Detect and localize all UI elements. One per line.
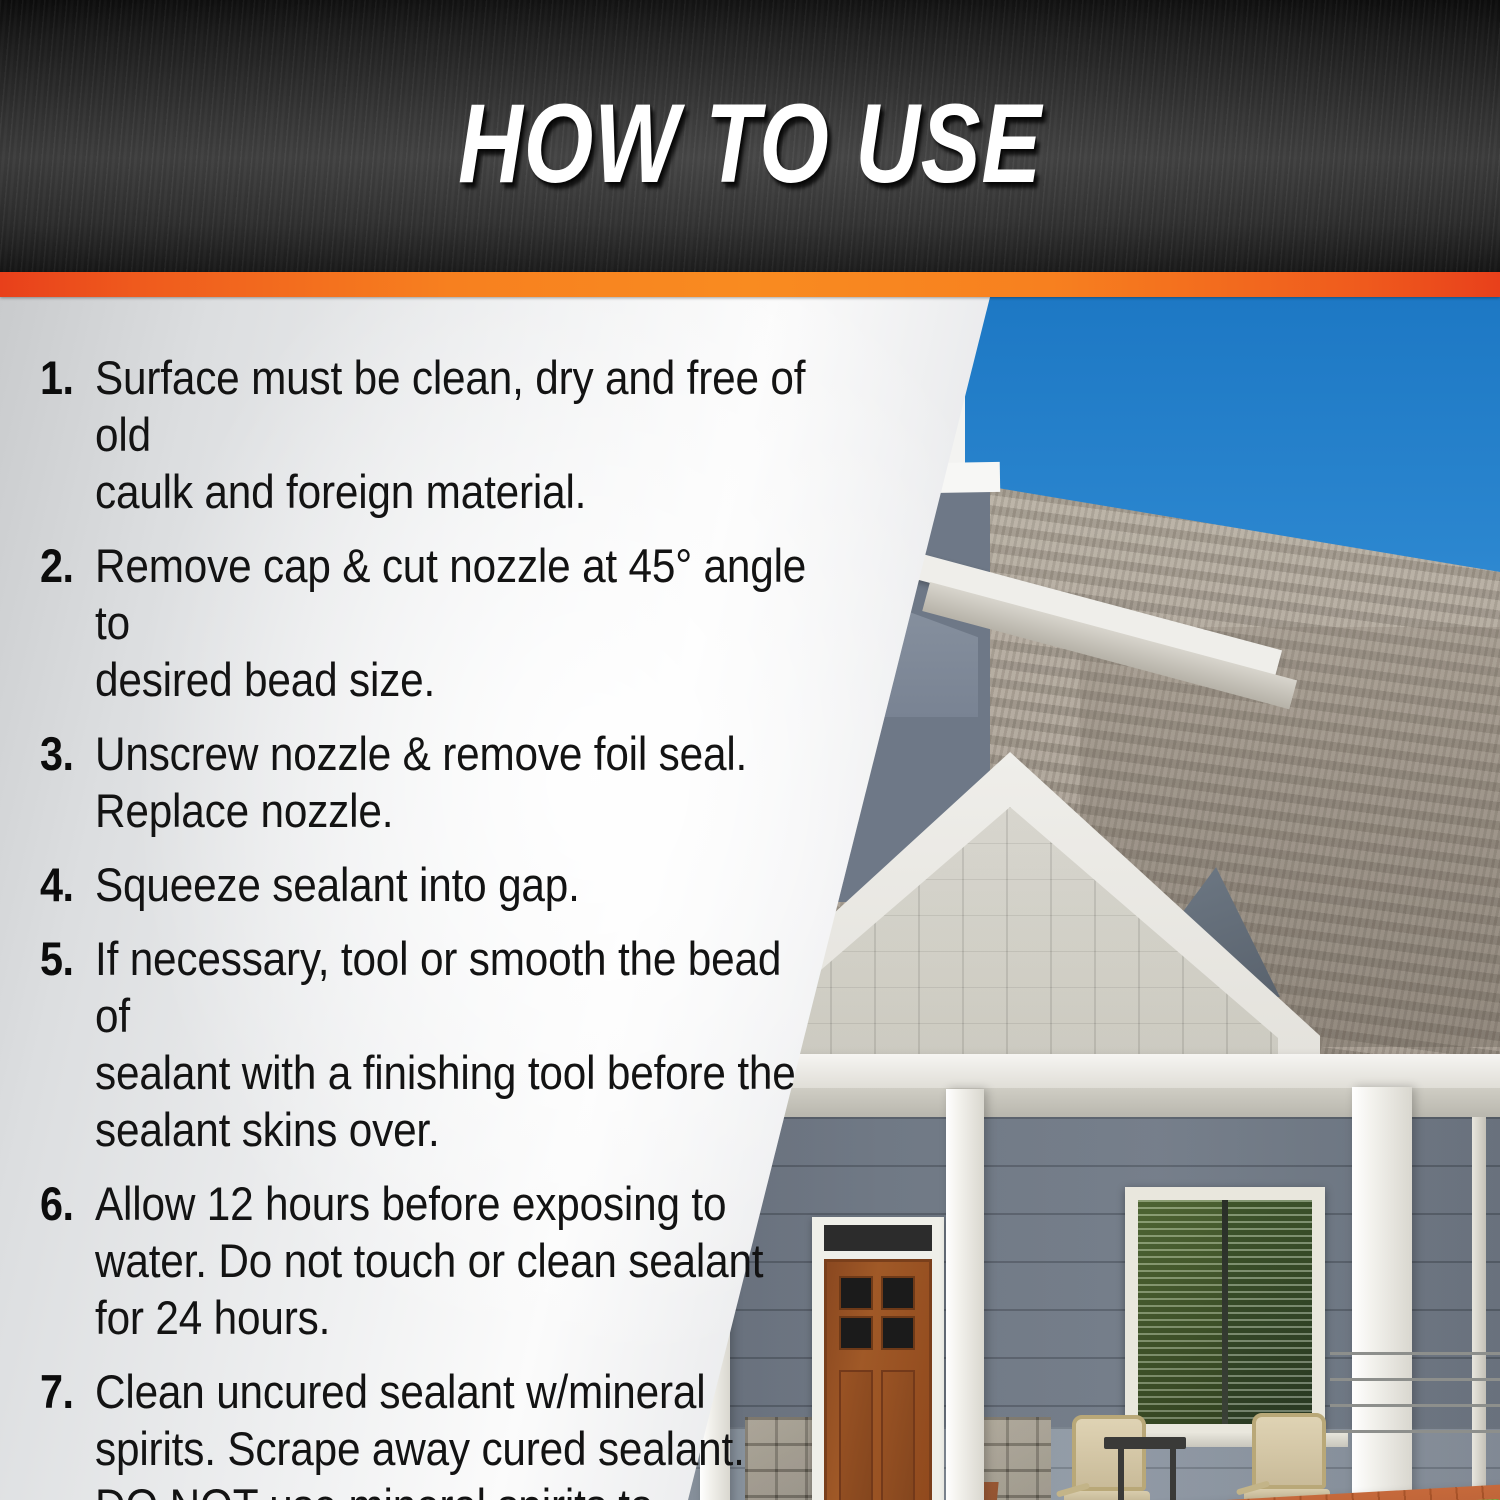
how-to-use-infographic: HOW TO USE 1.Surface must be clean, dry … [0, 0, 1500, 1500]
patio-table [1104, 1437, 1186, 1449]
step-text: Remove cap & cut nozzle at 45° angle tod… [95, 537, 820, 708]
porch-window [1125, 1187, 1325, 1437]
step-text: Squeeze sealant into gap. [95, 856, 820, 913]
step-text: Allow 12 hours before exposing towater. … [95, 1175, 820, 1346]
step-text-line: DO NOT use mineral spirits to [95, 1477, 820, 1500]
step-number: 6. [40, 1175, 88, 1232]
step-text-line: water. Do not touch or clean sealant [95, 1232, 820, 1289]
instruction-step: 5.If necessary, tool or smooth the bead … [40, 930, 900, 1158]
step-number: 2. [40, 537, 88, 594]
porch-railing [1330, 1352, 1500, 1452]
step-number: 3. [40, 725, 88, 782]
step-text-line: Remove cap & cut nozzle at 45° angle to [95, 537, 820, 651]
chair-back [1072, 1415, 1146, 1491]
porch-column-center [946, 1089, 984, 1500]
step-text-line: Unscrew nozzle & remove foil seal. [95, 725, 820, 782]
step-number: 7. [40, 1363, 88, 1420]
step-text-line: caulk and foreign material. [95, 463, 820, 520]
instruction-step: 3.Unscrew nozzle & remove foil seal.Repl… [40, 725, 900, 839]
header-banner: HOW TO USE [0, 0, 1500, 272]
instruction-step: 7.Clean uncured sealant w/mineralspirits… [40, 1363, 900, 1500]
step-text: Clean uncured sealant w/mineralspirits. … [95, 1363, 820, 1500]
step-text-line: spirits. Scrape away cured sealant. [95, 1420, 820, 1477]
step-text: Unscrew nozzle & remove foil seal.Replac… [95, 725, 820, 839]
instruction-step: 4.Squeeze sealant into gap. [40, 856, 900, 913]
instruction-step: 2.Remove cap & cut nozzle at 45° angle t… [40, 537, 900, 708]
instruction-step: 6.Allow 12 hours before exposing towater… [40, 1175, 900, 1346]
step-text-line: Replace nozzle. [95, 782, 820, 839]
page-title: HOW TO USE [150, 88, 1350, 200]
chair-seat [1064, 1491, 1150, 1500]
chair-back [1252, 1413, 1326, 1489]
step-text-line: Allow 12 hours before exposing to [95, 1175, 820, 1232]
instruction-step: 1.Surface must be clean, dry and free of… [40, 349, 900, 520]
step-number: 5. [40, 930, 88, 987]
step-text-line: Surface must be clean, dry and free of o… [95, 349, 820, 463]
table-leg [1118, 1449, 1124, 1500]
step-text-line: If necessary, tool or smooth the bead of [95, 930, 820, 1044]
step-text: If necessary, tool or smooth the bead of… [95, 930, 820, 1158]
instruction-steps-list: 1.Surface must be clean, dry and free of… [0, 297, 900, 1500]
step-text-line: desired bead size. [95, 651, 820, 708]
step-number: 1. [40, 349, 88, 406]
table-leg [1170, 1449, 1176, 1500]
step-text: Surface must be clean, dry and free of o… [95, 349, 820, 520]
step-text-line: sealant with a finishing tool before the [95, 1044, 820, 1101]
step-text-line: Clean uncured sealant w/mineral [95, 1363, 820, 1420]
step-text-line: sealant skins over. [95, 1101, 820, 1158]
step-text-line: for 24 hours. [95, 1289, 820, 1346]
step-number: 4. [40, 856, 88, 913]
step-text-line: Squeeze sealant into gap. [95, 856, 820, 913]
accent-stripe [0, 272, 1500, 297]
